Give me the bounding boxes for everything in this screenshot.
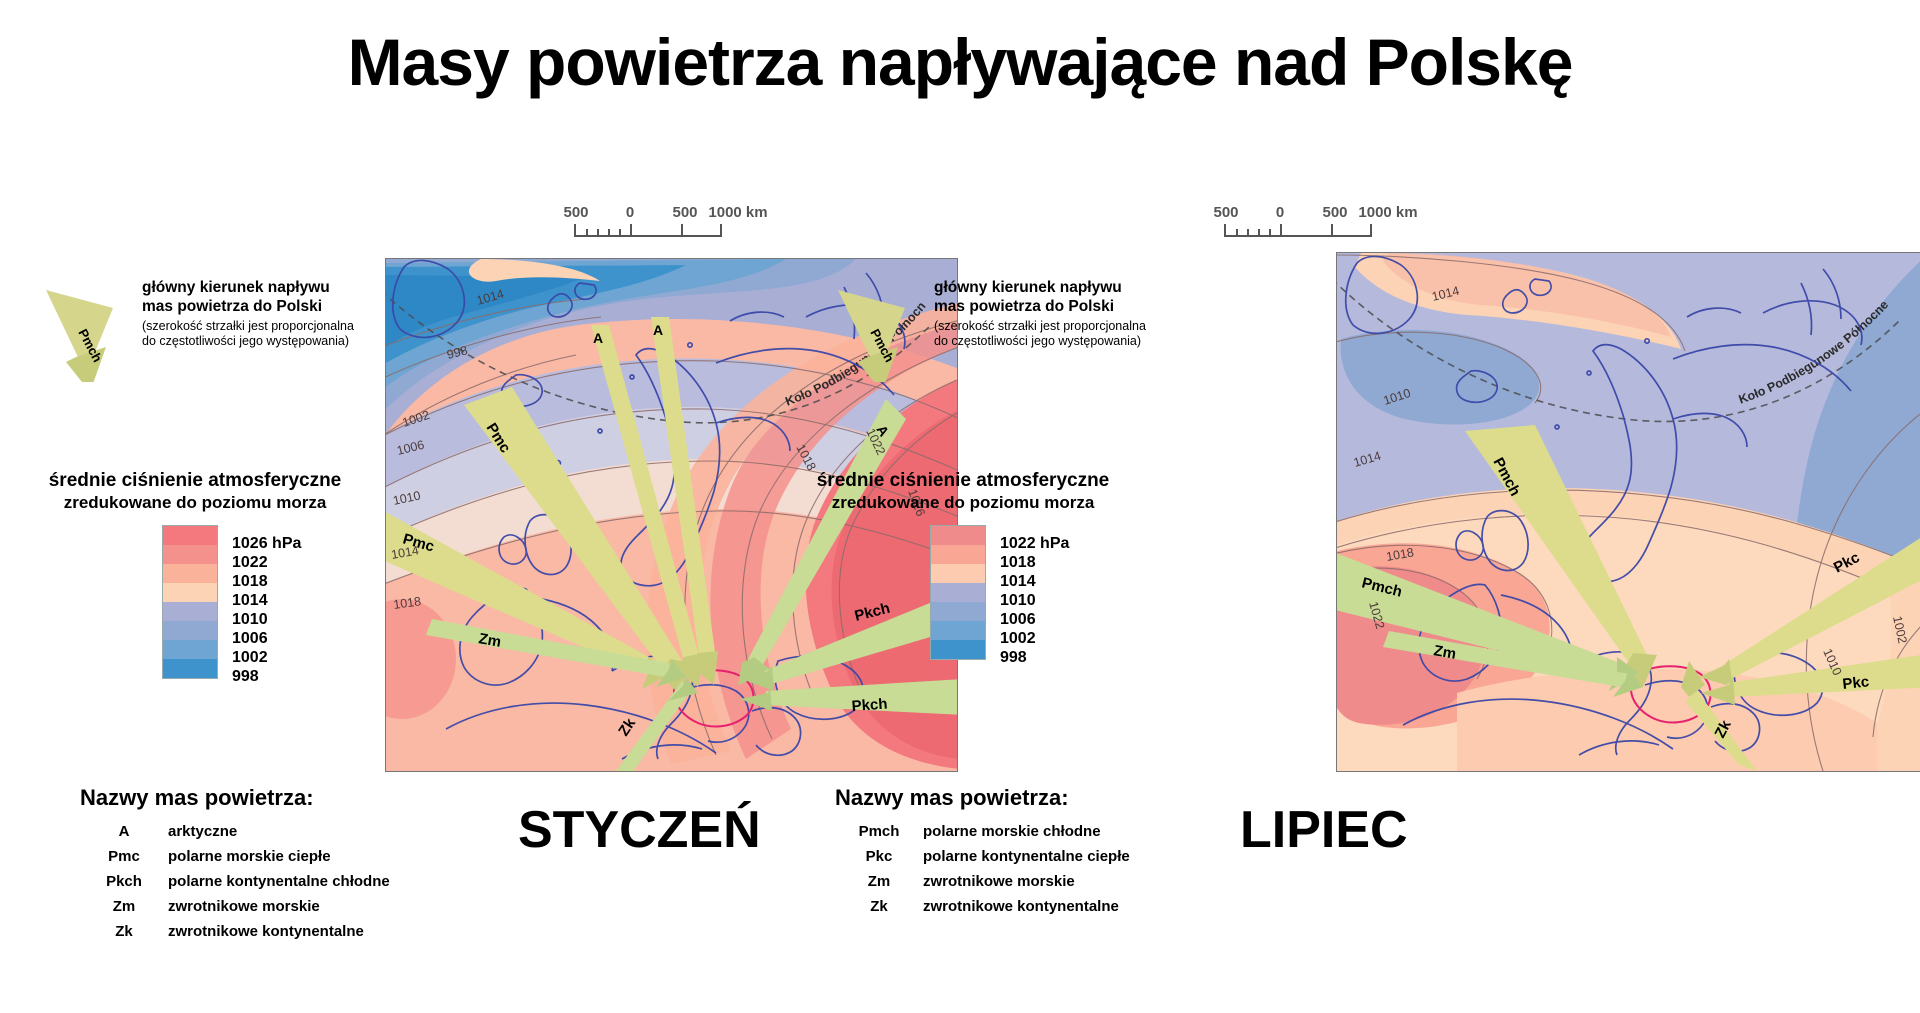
pressure-label-july-1: 1018 bbox=[1000, 553, 1069, 572]
air-mass-code-january-0: A bbox=[80, 823, 168, 840]
pressure-labels-july: 1022 hPa10181014101010061002998 bbox=[1000, 534, 1069, 667]
air-mass-desc-january-3: zwrotnikowe morskie bbox=[168, 898, 320, 915]
air-mass-desc-july-3: zwrotnikowe kontynentalne bbox=[923, 898, 1119, 915]
pressure-label-january-6: 1002 bbox=[232, 648, 301, 667]
air-mass-desc-january-4: zwrotnikowe kontynentalne bbox=[168, 923, 364, 940]
pressure-swatch-july-5 bbox=[931, 621, 985, 640]
names-row: Zmzwrotnikowe morskie bbox=[80, 898, 390, 923]
direction-legend-line1: główny kierunek napływu bbox=[934, 278, 1164, 297]
pressure-legend-subtitle: zredukowane do poziomu morza bbox=[20, 493, 370, 513]
air-mass-code-july-0: Pmch bbox=[835, 823, 923, 840]
direction-legend-note2: do częstotliwości jego występowania) bbox=[142, 334, 372, 350]
panel-july: 500 0 500 1000 km Pmch bbox=[960, 0, 1920, 1013]
pressure-legend-january: średnie ciśnienie atmosferyczne zredukow… bbox=[20, 470, 370, 700]
pressure-label-january-3: 1014 bbox=[232, 591, 301, 610]
names-row: Aarktyczne bbox=[80, 823, 390, 848]
map-july[interactable]: Koło Podbiegunowe Północne bbox=[1336, 252, 1920, 772]
air-mass-desc-july-0: polarne morskie chłodne bbox=[923, 823, 1101, 840]
scalebar-label-1: 0 bbox=[1276, 204, 1284, 221]
pressure-label-january-0: 1026 hPa bbox=[232, 534, 301, 553]
pressure-label-july-5: 1002 bbox=[1000, 629, 1069, 648]
scalebar-label-3: 1000 km bbox=[1358, 204, 1417, 221]
direction-legend-line1: główny kierunek napływu bbox=[142, 278, 372, 297]
pressure-label-july-2: 1014 bbox=[1000, 572, 1069, 591]
pressure-label-january-5: 1006 bbox=[232, 629, 301, 648]
pressure-swatch-july-1 bbox=[931, 545, 985, 564]
names-row: Pkchpolarne kontynentalne chłodne bbox=[80, 873, 390, 898]
map-july-canvas: Koło Podbiegunowe Północne bbox=[1337, 253, 1920, 772]
air-mass-code-july-3: Zk bbox=[835, 898, 923, 915]
air-mass-code-january-2: Pkch bbox=[80, 873, 168, 890]
pressure-label-january-4: 1010 bbox=[232, 610, 301, 629]
pressure-legend-title: średnie ciśnienie atmosferyczne bbox=[788, 470, 1138, 493]
month-caption-january: STYCZEŃ bbox=[518, 800, 761, 860]
scalebar-label-0: 500 bbox=[563, 204, 588, 221]
air-mass-desc-july-2: zwrotnikowe morskie bbox=[923, 873, 1075, 890]
scalebar-label-0: 500 bbox=[1213, 204, 1238, 221]
names-row: Zmzwrotnikowe morskie bbox=[835, 873, 1130, 898]
pressure-colorbar-july bbox=[930, 525, 986, 660]
names-row: Pmchpolarne morskie chłodne bbox=[835, 823, 1130, 848]
pressure-legend-title: średnie ciśnienie atmosferyczne bbox=[20, 470, 370, 493]
pressure-swatch-january-6 bbox=[163, 640, 217, 659]
pressure-labels-january: 1026 hPa102210181014101010061002998 bbox=[232, 534, 301, 686]
pressure-legend-subtitle: zredukowane do poziomu morza bbox=[788, 493, 1138, 513]
pressure-label-july-3: 1010 bbox=[1000, 591, 1069, 610]
air-mass-code-january-4: Zk bbox=[80, 923, 168, 940]
scalebar-january: 500 0 500 1000 km bbox=[568, 204, 768, 237]
direction-legend-note1: (szerokość strzałki jest proporcjonalna bbox=[934, 319, 1164, 335]
scalebar-label-2: 500 bbox=[1322, 204, 1347, 221]
pressure-label-january-7: 998 bbox=[232, 667, 301, 686]
names-table-january: Nazwy mas powietrza: AarktycznePmcpolarn… bbox=[80, 785, 390, 948]
air-mass-code-july-1: Pkc bbox=[835, 848, 923, 865]
pressure-legend-july: średnie ciśnienie atmosferyczne zredukow… bbox=[788, 470, 1138, 700]
scalebar-label-1: 0 bbox=[626, 204, 634, 221]
pressure-swatch-january-0 bbox=[163, 526, 217, 545]
pressure-swatch-july-0 bbox=[931, 526, 985, 545]
pressure-label-july-0: 1022 hPa bbox=[1000, 534, 1069, 553]
names-row: Zkzwrotnikowe kontynentalne bbox=[80, 923, 390, 948]
air-mass-code-january-1: Pmc bbox=[80, 848, 168, 865]
pressure-swatch-july-4 bbox=[931, 602, 985, 621]
pressure-swatch-july-3 bbox=[931, 583, 985, 602]
pressure-swatch-january-2 bbox=[163, 564, 217, 583]
air-mass-code-january-3: Zm bbox=[80, 898, 168, 915]
names-title-july: Nazwy mas powietrza: bbox=[835, 785, 1130, 811]
pressure-label-july-4: 1006 bbox=[1000, 610, 1069, 629]
pressure-swatch-january-7 bbox=[163, 659, 217, 678]
names-row: Zkzwrotnikowe kontynentalne bbox=[835, 898, 1130, 923]
names-title-january: Nazwy mas powietrza: bbox=[80, 785, 390, 811]
pressure-swatch-january-1 bbox=[163, 545, 217, 564]
scalebar-label-2: 500 bbox=[672, 204, 697, 221]
scalebar-label-3: 1000 km bbox=[708, 204, 767, 221]
air-mass-desc-january-2: polarne kontynentalne chłodne bbox=[168, 873, 390, 890]
names-row: Pmcpolarne morskie ciepłe bbox=[80, 848, 390, 873]
direction-legend-note1: (szerokość strzałki jest proporcjonalna bbox=[142, 319, 372, 335]
month-caption-july: LIPIEC bbox=[1240, 800, 1408, 860]
direction-legend-line2: mas powietrza do Polski bbox=[934, 297, 1164, 316]
svg-text:Pkc: Pkc bbox=[1842, 673, 1870, 693]
pressure-swatch-january-3 bbox=[163, 583, 217, 602]
direction-legend-line2: mas powietrza do Polski bbox=[142, 297, 372, 316]
pressure-label-july-6: 998 bbox=[1000, 648, 1069, 667]
svg-text:A: A bbox=[593, 330, 603, 346]
names-row: Pkcpolarne kontynentalne ciepłe bbox=[835, 848, 1130, 873]
pressure-colorbar-january bbox=[162, 525, 218, 679]
direction-legend-note2: do częstotliwości jego występowania) bbox=[934, 334, 1164, 350]
svg-text:A: A bbox=[653, 322, 663, 338]
scalebar-july: 500 0 500 1000 km bbox=[1218, 204, 1418, 237]
pressure-swatch-july-6 bbox=[931, 640, 985, 659]
poster-root: Masy powietrza napływające nad Polskę 50… bbox=[0, 0, 1920, 1013]
pressure-swatch-january-5 bbox=[163, 621, 217, 640]
pressure-swatch-january-4 bbox=[163, 602, 217, 621]
pressure-label-january-1: 1022 bbox=[232, 553, 301, 572]
pressure-swatch-july-2 bbox=[931, 564, 985, 583]
air-mass-code-july-2: Zm bbox=[835, 873, 923, 890]
air-mass-desc-january-0: arktyczne bbox=[168, 823, 237, 840]
air-mass-desc-july-1: polarne kontynentalne ciepłe bbox=[923, 848, 1130, 865]
air-mass-desc-january-1: polarne morskie ciepłe bbox=[168, 848, 331, 865]
names-table-july: Nazwy mas powietrza: Pmchpolarne morskie… bbox=[835, 785, 1130, 923]
pressure-label-january-2: 1018 bbox=[232, 572, 301, 591]
